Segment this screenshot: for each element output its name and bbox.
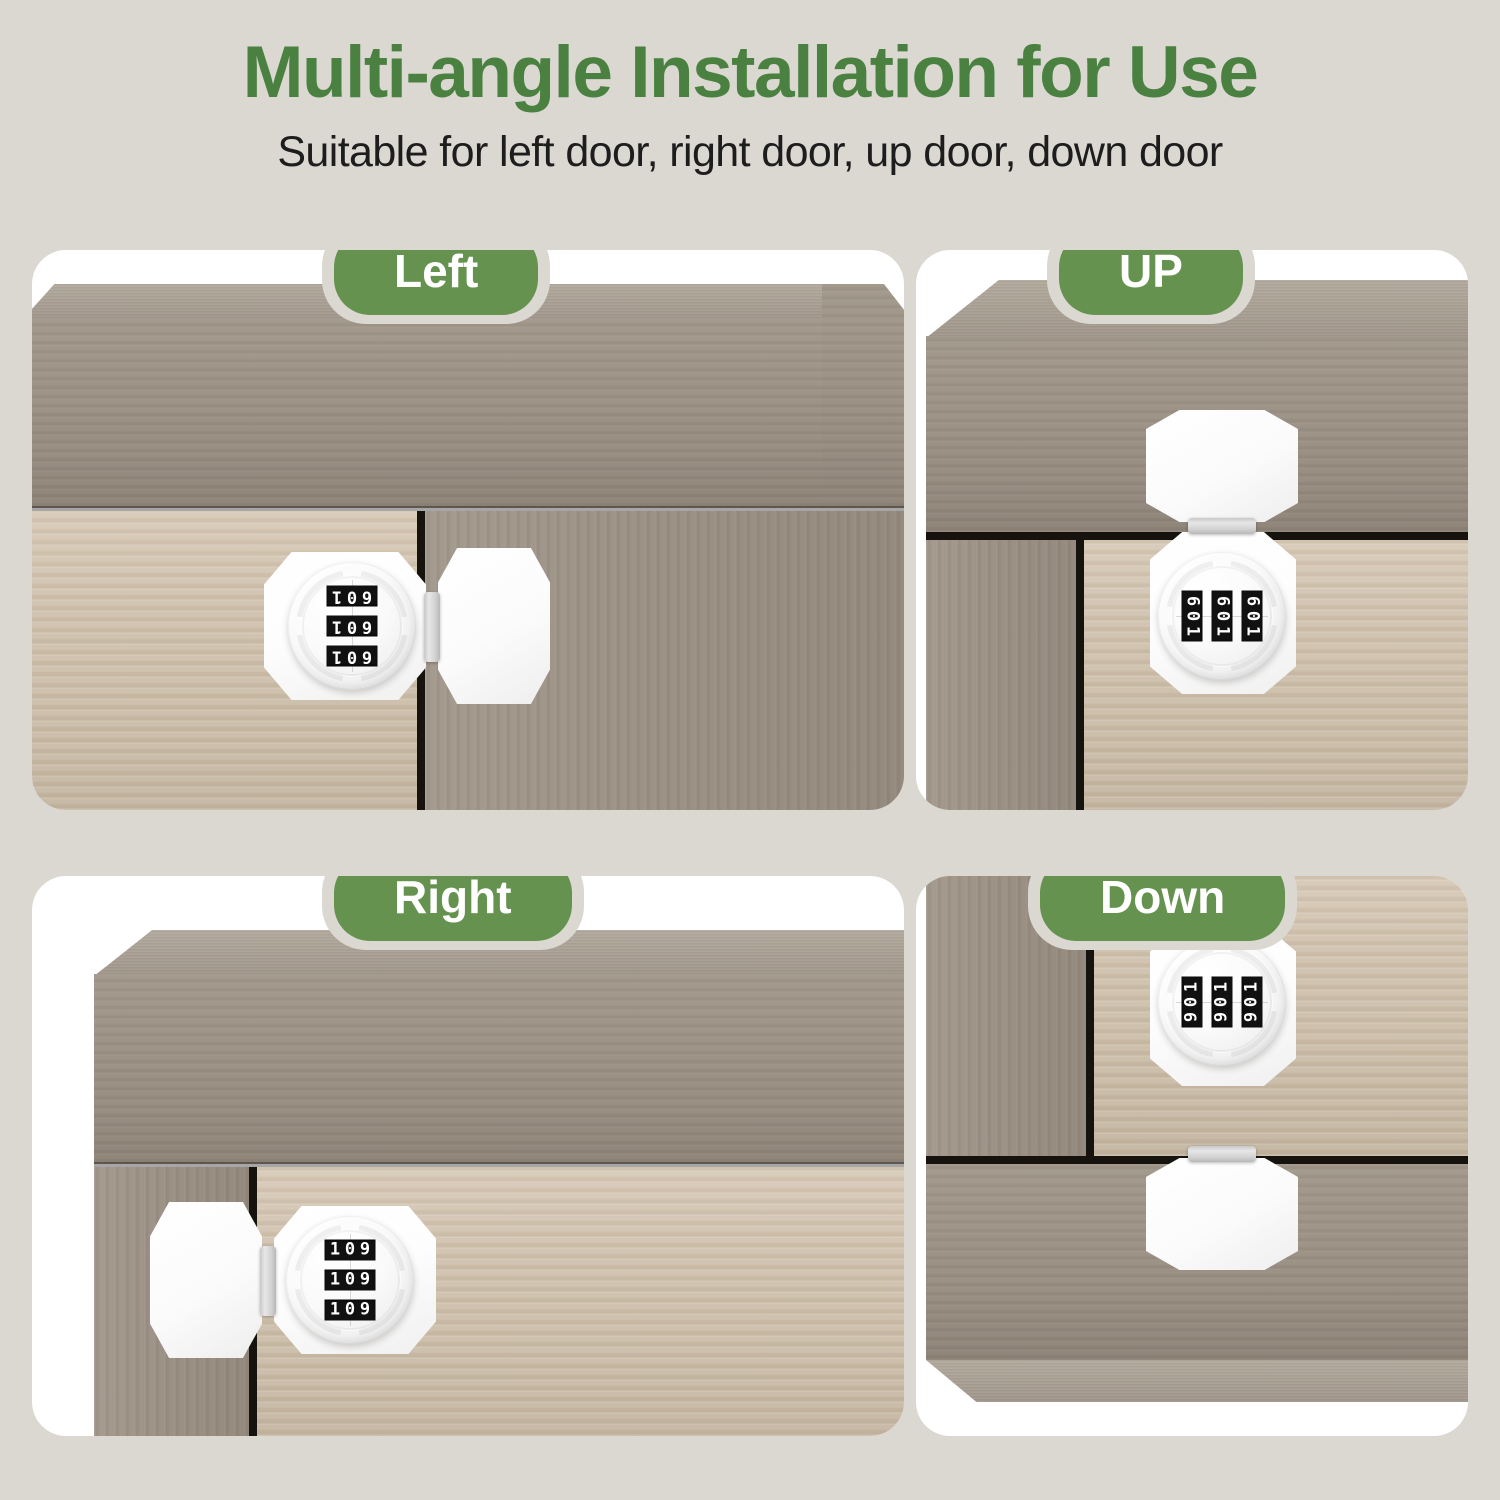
drawer-front: [94, 974, 904, 1164]
lock-hinge: [424, 592, 440, 662]
cabinet-lock-right[interactable]: 1 0 9 1 0 9 1 0 9: [150, 1196, 450, 1366]
lock-latch-wing[interactable]: [1146, 410, 1298, 522]
digit-1: 0: [1214, 611, 1231, 622]
panel-right: 1 0 9 1 0 9 1 0 9: [32, 876, 904, 1436]
digit-2: 1: [1244, 626, 1261, 637]
digit-wheel-row[interactable]: 6 0 1: [1212, 591, 1233, 642]
drawer-front: [32, 318, 822, 508]
digit-0: 6: [362, 648, 373, 665]
digit-2: 1: [332, 588, 343, 605]
panel-down: 9 0 1 9 0 1 9 0 1: [916, 876, 1468, 1436]
badge-up: UP: [1059, 250, 1243, 315]
lock-latch-wing[interactable]: [1146, 1158, 1298, 1270]
lock-hinge: [1188, 518, 1256, 534]
digit-0: 6: [1244, 596, 1261, 607]
cabinet-lock-down[interactable]: 9 0 1 9 0 1 9 0 1: [1140, 924, 1310, 1254]
digit-2: 1: [1244, 982, 1261, 993]
combination-dial[interactable]: 6 0 1 6 0 1 6 0 1: [1158, 552, 1286, 680]
cabinet-lock-left[interactable]: 6 0 1 6 0 1 6 0 1: [264, 542, 564, 712]
digit-1: 0: [347, 618, 358, 635]
digit-1: 0: [1244, 997, 1261, 1008]
digit-wheel-row[interactable]: 6 0 1: [1242, 591, 1263, 642]
digit-wheel-row[interactable]: 9 0 1: [1242, 977, 1263, 1028]
digit-wheel-row[interactable]: 6 0 1: [327, 616, 378, 637]
panel-grid: 6 0 1 6 0 1 6 0 1: [32, 250, 1468, 1436]
digit-0: 9: [1214, 1012, 1231, 1023]
scene-down-door: 9 0 1 9 0 1 9 0 1: [916, 876, 1468, 1436]
digit-1: 0: [347, 588, 358, 605]
digit-wheel-row[interactable]: 6 0 1: [327, 586, 378, 607]
digit-wheel-stack[interactable]: 6 0 1 6 0 1 6 0 1: [327, 586, 378, 667]
door-left-leaf: [926, 540, 1076, 810]
digit-wheel-row[interactable]: 1 0 9: [325, 1300, 376, 1321]
header: Multi-angle Installation for Use Suitabl…: [0, 0, 1500, 200]
digit-wheel-row[interactable]: 6 0 1: [327, 646, 378, 667]
badge-down-wrap: Down: [1028, 876, 1297, 950]
digit-wheel-row[interactable]: 6 0 1: [1182, 591, 1203, 642]
digit-wheel-stack[interactable]: 1 0 9 1 0 9 1 0 9: [325, 1240, 376, 1321]
digit-wheel-row[interactable]: 9 0 1: [1212, 977, 1233, 1028]
combination-dial[interactable]: 1 0 9 1 0 9 1 0 9: [286, 1216, 414, 1344]
cabinet-lock-up[interactable]: 6 0 1 6 0 1 6 0 1: [1140, 410, 1310, 740]
digit-wheel-row[interactable]: 1 0 9: [325, 1240, 376, 1261]
digit-2: 1: [1214, 982, 1231, 993]
digit-1: 0: [1184, 997, 1201, 1008]
lock-hinge: [1188, 1146, 1256, 1162]
digit-wheel-stack[interactable]: 9 0 1 9 0 1 9 0 1: [1182, 977, 1263, 1028]
digit-0: 9: [1244, 1012, 1261, 1023]
digit-1: 0: [1244, 611, 1261, 622]
digit-0: 1: [330, 1302, 341, 1319]
combination-dial[interactable]: 6 0 1 6 0 1 6 0 1: [288, 562, 416, 690]
combination-dial[interactable]: 9 0 1 9 0 1 9 0 1: [1158, 938, 1286, 1066]
digit-0: 6: [362, 588, 373, 605]
digit-2: 1: [1184, 982, 1201, 993]
badge-down: Down: [1040, 876, 1285, 941]
badge-right: Right: [334, 876, 572, 941]
digit-2: 9: [360, 1272, 371, 1289]
lock-hinge: [260, 1246, 276, 1316]
lock-latch-wing[interactable]: [150, 1202, 262, 1358]
badge-up-wrap: UP: [1047, 250, 1255, 324]
digit-0: 6: [1214, 596, 1231, 607]
digit-0: 6: [362, 618, 373, 635]
lock-latch-wing[interactable]: [438, 548, 550, 704]
badge-right-wrap: Right: [322, 876, 584, 950]
digit-2: 1: [332, 618, 343, 635]
digit-wheel-row[interactable]: 9 0 1: [1182, 977, 1203, 1028]
digit-2: 1: [332, 648, 343, 665]
page-subtitle: Suitable for left door, right door, up d…: [0, 109, 1500, 174]
digit-2: 1: [1184, 626, 1201, 637]
scene-up-door: 6 0 1 6 0 1 6 0 1: [916, 250, 1468, 810]
badge-left-wrap: Left: [322, 250, 550, 324]
digit-0: 1: [330, 1272, 341, 1289]
page-title: Multi-angle Installation for Use: [0, 0, 1500, 109]
digit-2: 9: [360, 1242, 371, 1259]
badge-left: Left: [334, 250, 538, 315]
cabinet-side-top: [822, 284, 904, 508]
digit-1: 0: [345, 1272, 356, 1289]
panel-up: 6 0 1 6 0 1 6 0 1: [916, 250, 1468, 810]
digit-wheel-stack[interactable]: 6 0 1 6 0 1 6 0 1: [1182, 591, 1263, 642]
door-gap-vertical: [1076, 540, 1084, 810]
digit-2: 1: [1214, 626, 1231, 637]
scene-left-door: 6 0 1 6 0 1 6 0 1: [32, 250, 904, 810]
scene-right-door: 1 0 9 1 0 9 1 0 9: [32, 876, 904, 1436]
digit-1: 0: [1214, 997, 1231, 1008]
digit-0: 6: [1184, 596, 1201, 607]
digit-1: 0: [345, 1242, 356, 1259]
digit-1: 0: [347, 648, 358, 665]
panel-left: 6 0 1 6 0 1 6 0 1: [32, 250, 904, 810]
digit-0: 9: [1184, 1012, 1201, 1023]
digit-1: 0: [1184, 611, 1201, 622]
digit-2: 9: [360, 1302, 371, 1319]
digit-wheel-row[interactable]: 1 0 9: [325, 1270, 376, 1291]
digit-0: 1: [330, 1242, 341, 1259]
cabinet-base-surface: [926, 1360, 1468, 1402]
digit-1: 0: [345, 1302, 356, 1319]
